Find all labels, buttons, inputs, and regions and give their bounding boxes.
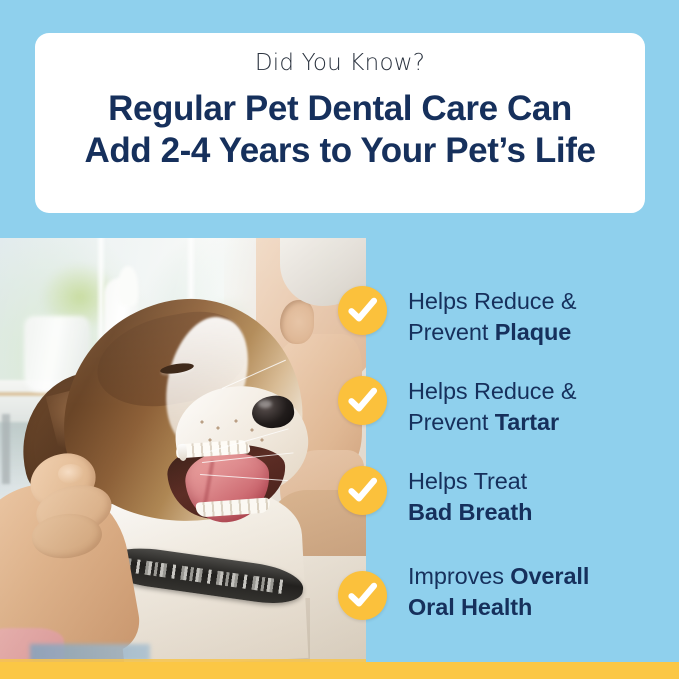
- benefit-2-line-1: Helps Reduce &: [408, 376, 576, 407]
- benefit-text-1: Helps Reduce & Prevent Plaque: [408, 286, 576, 348]
- benefit-text-2: Helps Reduce & Prevent Tartar: [408, 376, 576, 438]
- photo-vase: [118, 266, 138, 306]
- infographic-canvas: Did You Know? Regular Pet Dental Care Ca…: [0, 0, 679, 679]
- benefit-4-line-1: Improves Overall: [408, 561, 589, 592]
- benefit-1-line-2: Prevent Plaque: [408, 317, 576, 348]
- dog-photo: [0, 238, 366, 662]
- check-circle-icon: [338, 376, 387, 425]
- benefit-4-line-2: Oral Health: [408, 592, 589, 623]
- benefit-3-line-1: Helps Treat: [408, 466, 532, 497]
- photo-person-knuckle: [58, 464, 84, 484]
- headline-line-1: Regular Pet Dental Care Can: [35, 88, 645, 131]
- check-circle-icon: [338, 571, 387, 620]
- benefit-3-line-2: Bad Breath: [408, 497, 532, 528]
- photo-dog-nose-highlight: [258, 400, 272, 408]
- header-card: Did You Know? Regular Pet Dental Care Ca…: [35, 33, 645, 213]
- benefit-text-4: Improves Overall Oral Health: [408, 561, 589, 623]
- benefit-1-line-1: Helps Reduce &: [408, 286, 576, 317]
- photo-person-ear: [280, 300, 314, 344]
- eyebrow-text: Did You Know?: [255, 50, 425, 78]
- benefit-2-line-2: Prevent Tartar: [408, 407, 576, 438]
- check-circle-icon: [338, 286, 387, 335]
- check-circle-icon: [338, 466, 387, 515]
- page-title: Regular Pet Dental Care Can Add 2-4 Year…: [35, 88, 645, 173]
- benefit-text-3: Helps Treat Bad Breath: [408, 466, 532, 528]
- bottom-accent-bar: [0, 662, 679, 679]
- headline-line-2: Add 2-4 Years to Your Pet’s Life: [35, 130, 645, 173]
- photo-table-leg: [2, 414, 10, 484]
